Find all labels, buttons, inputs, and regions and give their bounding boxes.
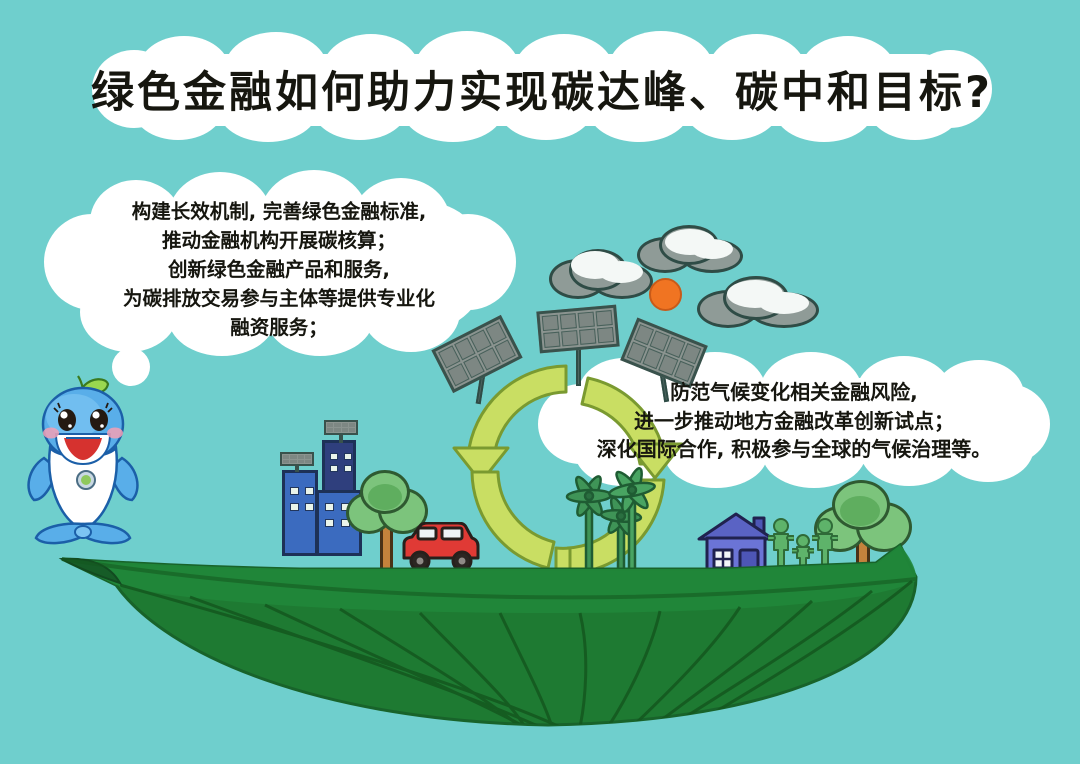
right-bubble-text: 防范气候变化相关金融风险, 进一步推动地方金融改革创新试点； 深化国际合作, 积… bbox=[538, 362, 1050, 480]
right-bubble-line-1: 防范气候变化相关金融风险, bbox=[670, 381, 918, 403]
page-title: 绿色金融如何助力实现碳达峰、碳中和目标? bbox=[92, 36, 992, 142]
left-bubble-line-5: 融资服务； bbox=[230, 317, 328, 339]
right-bubble-line-3: 深化国际合作, 积极参与全球的气候治理等。 bbox=[597, 438, 992, 460]
left-bubble-line-3: 创新绿色金融产品和服务, bbox=[168, 259, 390, 281]
green-leaf-platform bbox=[0, 505, 1080, 735]
sun-icon bbox=[649, 278, 682, 311]
right-bubble-line-2: 进一步推动地方金融改革创新试点； bbox=[634, 410, 954, 432]
left-bubble-line-1: 构建长效机制, 完善绿色金融标准, bbox=[132, 201, 427, 223]
infographic-poster: 绿色金融如何助力实现碳达峰、碳中和目标? 构建长效机制, 完善绿色金融标准, 推… bbox=[0, 0, 1080, 764]
cloud-icon-right bbox=[697, 272, 829, 330]
blue-dolphin-mascot bbox=[22, 372, 146, 552]
left-bubble-line-2: 推动金融机构开展碳核算； bbox=[162, 230, 396, 252]
left-bubble-line-4: 为碳排放交易参与主体等提供专业化 bbox=[123, 288, 435, 310]
cloud-icon-top bbox=[637, 223, 757, 275]
left-bubble-text: 构建长效机制, 完善绿色金融标准, 推动金融机构开展碳核算； 创新绿色金融产品和… bbox=[44, 186, 514, 354]
